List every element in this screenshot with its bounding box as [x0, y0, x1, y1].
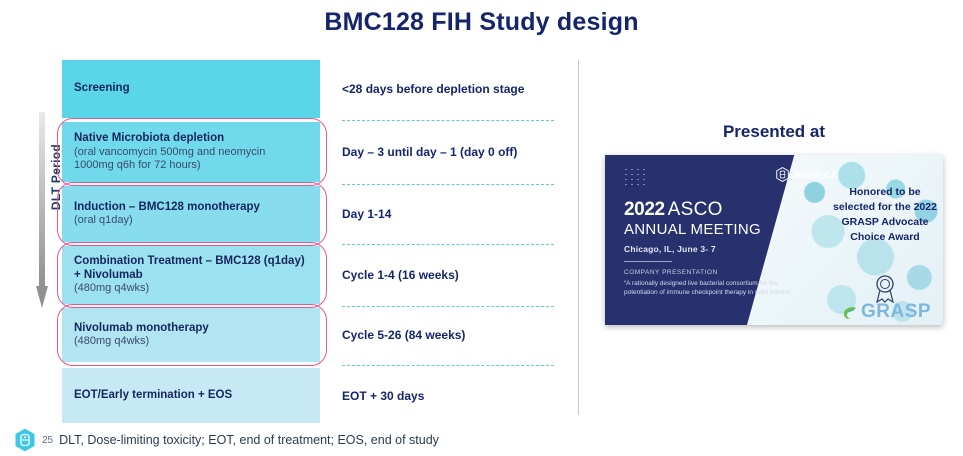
footer: 25 DLT, Dose-limiting toxicity; EOT, end… [14, 428, 439, 452]
asco-location: Chicago, IL, June 3- 7 [624, 244, 716, 254]
grasp-logo: GRASP [841, 301, 931, 323]
grasp-swirl-icon [841, 304, 858, 321]
asco-divider [624, 261, 672, 262]
dot-grid-icon [623, 167, 649, 187]
timing-column: <28 days before depletion stageDay – 3 u… [342, 60, 557, 415]
stage-box: Nivolumab monotherapy(480mg q4wks) [62, 308, 320, 362]
award-text: Honored to be selected for the 2022 GRAS… [833, 185, 937, 245]
dashed-separator [342, 120, 554, 121]
vertical-divider [578, 60, 579, 415]
asco-quote: “A rationally designed live bacterial co… [624, 279, 809, 297]
timing-text: Day – 3 until day – 1 (day 0 off) [342, 122, 557, 182]
stage-title: Nivolumab monotherapy [74, 322, 308, 336]
timing-text: Cycle 1-4 (16 weeks) [342, 246, 557, 304]
stage-subtitle: (480mg q4wks) [74, 282, 308, 295]
stage-stack: ScreeningNative Microbiota depletion(ora… [62, 60, 320, 415]
page-number: 25 [42, 435, 53, 446]
stage-title: Induction – BMC128 monotherapy [74, 201, 308, 215]
biomica-hexagon-icon [775, 167, 790, 182]
stage-title: Screening [74, 82, 308, 96]
dashed-separator [342, 244, 554, 245]
timing-text: EOT + 30 days [342, 368, 557, 423]
stage-box: Native Microbiota depletion(oral vancomy… [62, 122, 320, 182]
dashed-separator [342, 306, 554, 307]
dashed-separator [342, 365, 554, 366]
dlt-period-label: DLT Period [49, 117, 63, 237]
biomica-wordmark: BIOMICA [794, 170, 838, 180]
biomica-logo: BIOMICA [775, 167, 838, 182]
biomica-hexagon-icon [14, 428, 36, 452]
down-arrow-icon [36, 112, 48, 308]
asco-poster-card: BIOMICA 2022ASCO ANNUAL MEETING Chicago,… [605, 155, 943, 325]
stage-subtitle: (480mg q4wks) [74, 335, 308, 348]
slide-root: BMC128 FIH Study design DLT Period Scree… [0, 0, 963, 456]
award-ribbon-icon [869, 273, 901, 303]
timing-text: Day 1-14 [342, 186, 557, 242]
stage-box: Screening [62, 60, 320, 118]
asco-name: ASCO [668, 199, 723, 220]
timing-text: Cycle 5-26 (84 weeks) [342, 308, 557, 362]
stage-box: Induction – BMC128 monotherapy(oral q1da… [62, 186, 320, 242]
asco-title-line: 2022ASCO [624, 199, 723, 221]
stage-title: Native Microbiota depletion [74, 132, 308, 146]
stage-title: EOT/Early termination + EOS [74, 389, 308, 403]
asco-subtitle: ANNUAL MEETING [624, 221, 761, 238]
page-title: BMC128 FIH Study design [0, 8, 963, 37]
presented-at-heading: Presented at [605, 122, 943, 142]
grasp-wordmark: GRASP [861, 301, 931, 323]
abbreviation-legend: DLT, Dose-limiting toxicity; EOT, end of… [59, 433, 439, 447]
stage-subtitle: (oral vancomycin 500mg and neomycin 1000… [74, 146, 308, 172]
stage-title: Combination Treatment – BMC128 (q1day) +… [74, 255, 308, 282]
asco-year: 2022 [624, 199, 665, 220]
stage-box: Combination Treatment – BMC128 (q1day) +… [62, 246, 320, 304]
asco-kicker: COMPANY PRESENTATION [624, 269, 718, 276]
timing-text: <28 days before depletion stage [342, 60, 557, 118]
dashed-separator [342, 184, 554, 185]
stage-subtitle: (oral q1day) [74, 214, 308, 227]
stage-box: EOT/Early termination + EOS [62, 368, 320, 423]
